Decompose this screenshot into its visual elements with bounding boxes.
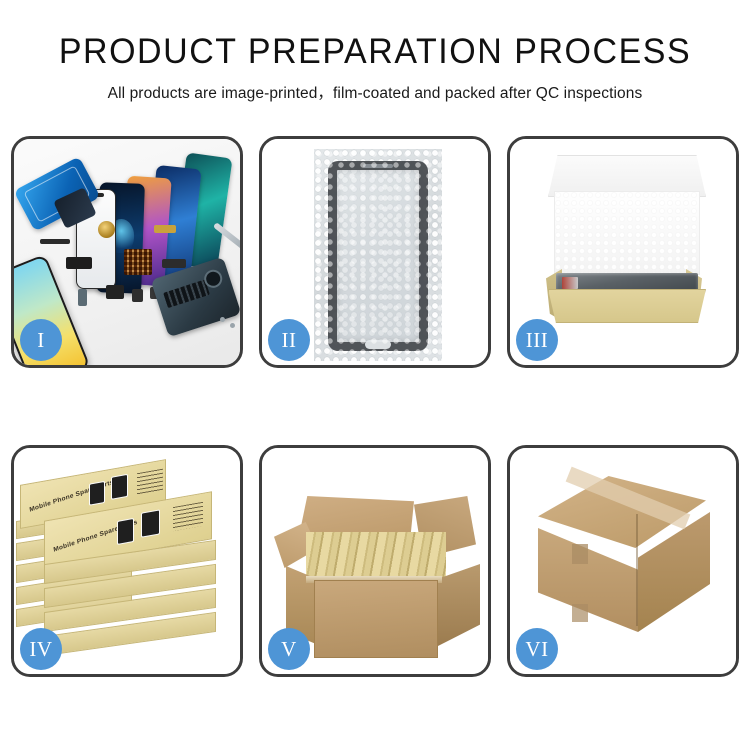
foam-padding-icon bbox=[554, 191, 700, 275]
box-product-thumbnail bbox=[141, 509, 160, 537]
process-step-panel-5: V bbox=[259, 445, 491, 677]
box-product-thumbnail bbox=[117, 518, 134, 545]
chip-part-icon bbox=[132, 289, 143, 302]
box-product-thumbnail bbox=[89, 481, 105, 506]
process-step-panel-2: II bbox=[259, 136, 491, 368]
connector-grid-icon bbox=[124, 249, 152, 275]
step-badge-2: II bbox=[268, 319, 310, 361]
packing-tape-icon bbox=[572, 604, 588, 622]
process-step-panel-6: VI bbox=[507, 445, 739, 677]
step-badge-5: V bbox=[268, 628, 310, 670]
carton-front-face-icon bbox=[314, 580, 438, 658]
phone-screen-icon bbox=[328, 161, 428, 351]
flex-cable-icon bbox=[162, 259, 186, 268]
product-preparation-infographic: PRODUCT PREPARATION PROCESS All products… bbox=[0, 0, 750, 750]
kraft-box-front-icon bbox=[548, 289, 706, 323]
sim-tray-icon bbox=[78, 289, 87, 306]
process-step-panel-1: I bbox=[11, 136, 243, 368]
box-spec-text-lines bbox=[137, 469, 163, 496]
process-step-panel-3: III bbox=[507, 136, 739, 368]
process-step-panel-4: Mobile Phone Spare Parts Mobile Phone Sp… bbox=[11, 445, 243, 677]
header: PRODUCT PREPARATION PROCESS All products… bbox=[0, 0, 750, 103]
page-title: PRODUCT PREPARATION PROCESS bbox=[11, 34, 739, 71]
chip-part-icon bbox=[106, 285, 124, 299]
process-step-grid: I II III bbox=[11, 136, 739, 677]
page-subtitle: All products are image-printed，film-coat… bbox=[0, 81, 750, 103]
packing-tape-icon bbox=[572, 544, 588, 564]
screw-icon bbox=[220, 317, 225, 322]
gold-contact-icon bbox=[154, 225, 176, 233]
bar-part-icon bbox=[40, 239, 70, 244]
step-badge-6: VI bbox=[516, 628, 558, 670]
flex-cable-icon bbox=[66, 257, 92, 269]
carton-edge bbox=[636, 514, 638, 626]
screw-icon bbox=[230, 323, 235, 328]
box-product-thumbnail bbox=[111, 474, 128, 500]
coil-part-icon bbox=[98, 221, 115, 238]
step-badge-3: III bbox=[516, 319, 558, 361]
step-badge-4: IV bbox=[20, 628, 62, 670]
step-badge-1: I bbox=[20, 319, 62, 361]
